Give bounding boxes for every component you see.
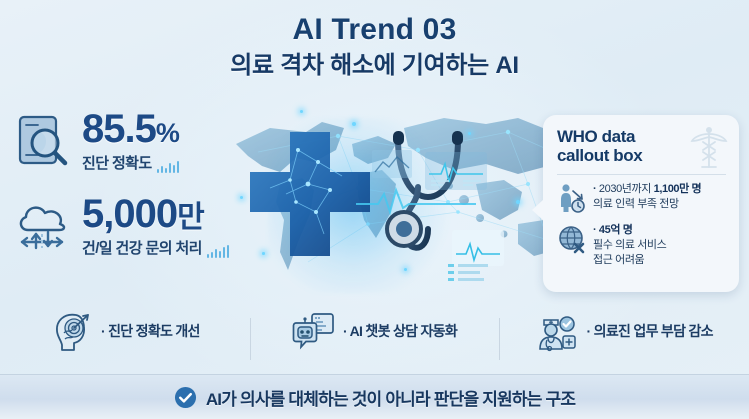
stat-daily-queries: 5,000만 건/일 건강 문의 처리 [12, 195, 252, 258]
stat-value: 85.5% [82, 110, 179, 149]
check-circle-icon [174, 386, 197, 409]
callout-item-access-gap: 45억 명 필수 의료 서비스 접근 어려움 [557, 223, 726, 269]
neural-mesh-glow [268, 118, 458, 293]
stat-label: 건/일 건강 문의 처리 [82, 237, 202, 258]
bar-chart-icon [207, 244, 230, 258]
benefit-chatbot-automation[interactable]: AI 챗봇 상담 자동화 [250, 309, 500, 353]
title-block: AI Trend 03 의료 격차 해소에 기여하는 AI [0, 14, 749, 80]
chatbot-icon [292, 309, 336, 353]
hud-chart-icon [452, 230, 504, 266]
hud-panel-icon [372, 150, 412, 178]
stat-label: 진단 정확도 [82, 152, 152, 173]
benefit-diagnosis-accuracy[interactable]: 진단 정확도 개선 [0, 309, 250, 353]
hud-legend-icon [448, 262, 492, 288]
infographic-canvas: AI Trend 03 의료 격차 해소에 기여하는 AI 85.5% 진단 정… [0, 0, 749, 419]
stat-value: 5,000만 [82, 195, 229, 234]
globe-no-access-icon [557, 224, 587, 254]
nurse-check-icon [536, 309, 580, 353]
cloud-data-transfer-icon [12, 196, 74, 258]
callout-item-detail: 필수 의료 서비스 접근 어려움 [593, 238, 666, 268]
benefit-label: 의료진 업무 부담 감소 [587, 321, 713, 341]
who-data-callout-box: WHO data callout box 2030년까지 1,100만 명 의료… [543, 115, 739, 292]
ecg-line-icon [356, 186, 476, 216]
summary-banner: AI가 의사를 대체하는 것이 아니라 판단을 지원하는 구조 [0, 374, 749, 419]
medical-cross-icon [246, 128, 374, 260]
page-subtitle: 의료 격차 해소에 기여하는 AI [0, 52, 749, 80]
callout-item-staff-shortage: 2030년까지 1,100만 명 의료 인력 부족 전망 [557, 182, 726, 213]
statistics-group: 85.5% 진단 정확도 [12, 110, 252, 258]
callout-item-text: 2030년까지 1,100만 명 의료 인력 부족 전망 [593, 182, 701, 212]
staff-shortage-icon [557, 183, 587, 213]
brain-target-icon [50, 309, 94, 353]
document-magnifier-icon [12, 111, 74, 173]
page-title: AI Trend 03 [0, 14, 749, 46]
world-map-icon [218, 92, 578, 297]
benefit-label: AI 챗봇 상담 자동화 [343, 321, 457, 341]
hud-vitals-icon [425, 152, 487, 190]
summary-banner-text: AI가 의사를 대체하는 것이 아니라 판단을 지원하는 구조 [206, 385, 575, 410]
callout-divider [557, 174, 726, 175]
benefits-row: 진단 정확도 개선 AI 챗봇 상담 자동화 [0, 299, 749, 363]
stethoscope-icon [360, 125, 495, 295]
stat-diagnosis-accuracy: 85.5% 진단 정확도 [12, 110, 252, 173]
callout-item-text: 45억 명 필수 의료 서비스 접근 어려움 [593, 223, 666, 269]
bar-chart-icon [157, 159, 180, 173]
benefit-label: 진단 정확도 개선 [101, 321, 200, 341]
benefit-staff-workload[interactable]: 의료진 업무 부담 감소 [499, 309, 749, 353]
caduceus-icon [690, 125, 728, 171]
